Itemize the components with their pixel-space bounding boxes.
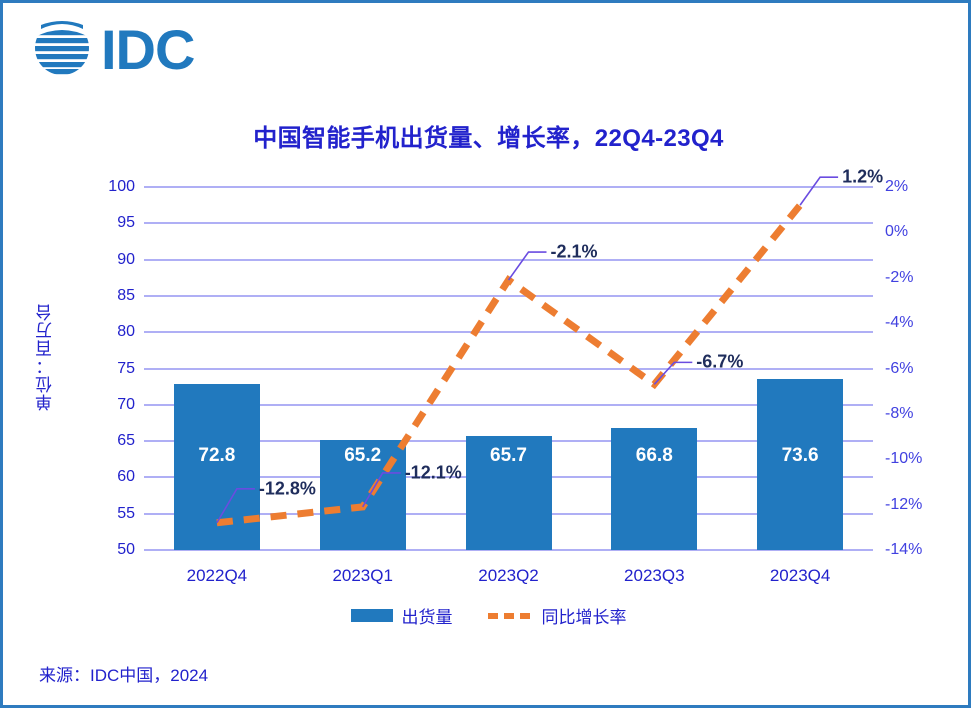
bar-value-label: 65.7 bbox=[466, 445, 552, 467]
gridline bbox=[144, 222, 873, 224]
y-tick-label-right: 0% bbox=[885, 223, 908, 241]
chart-page: IDC 中国智能手机出货量、增长率，22Q4-23Q4 单位：百万台 10095… bbox=[0, 0, 971, 708]
y-tick-label-left: 55 bbox=[117, 505, 135, 523]
legend: 出货量 同比增长率 bbox=[3, 603, 971, 628]
gridline bbox=[144, 259, 873, 261]
y-tick-label-right: -6% bbox=[885, 360, 913, 378]
bar-2023Q2[interactable]: 65.7 bbox=[466, 436, 552, 550]
y-tick-label-right: -10% bbox=[885, 450, 922, 468]
gridline bbox=[144, 368, 873, 370]
page-title: 中国智能手机出货量、增长率，22Q4-23Q4 bbox=[3, 118, 971, 153]
source-note: 来源：IDC中国，2024 bbox=[39, 661, 208, 686]
y-axis-title: 单位：百万台 bbox=[33, 303, 59, 411]
bar-value-label: 72.8 bbox=[174, 445, 260, 467]
y-tick-label-left: 75 bbox=[117, 360, 135, 378]
y-tick-label-left: 100 bbox=[108, 178, 135, 196]
y-tick-label-right: -14% bbox=[885, 541, 922, 559]
y-tick-label-right: -12% bbox=[885, 496, 922, 514]
growth-value-label: -12.1% bbox=[405, 462, 462, 483]
y-tick-label-left: 60 bbox=[117, 468, 135, 486]
bar-2022Q4[interactable]: 72.8 bbox=[174, 384, 260, 550]
y-tick-label-left: 70 bbox=[117, 396, 135, 414]
gridline bbox=[144, 295, 873, 297]
idc-logo-svg: IDC bbox=[31, 17, 231, 79]
legend-bar-swatch-icon bbox=[351, 609, 393, 622]
y-tick-label-right: -8% bbox=[885, 405, 913, 423]
x-axis-label-2023Q3: 2023Q3 bbox=[624, 566, 685, 586]
leader-line bbox=[654, 362, 692, 384]
growth-value-label: -6.7% bbox=[696, 352, 743, 373]
x-axis-label-2022Q4: 2022Q4 bbox=[187, 566, 248, 586]
bar-2023Q1[interactable]: 65.2 bbox=[320, 440, 406, 550]
y-tick-label-left: 95 bbox=[117, 214, 135, 232]
growth-value-label: -2.1% bbox=[551, 242, 598, 263]
x-axis-label-2023Q1: 2023Q1 bbox=[332, 566, 393, 586]
idc-globe-icon bbox=[31, 21, 93, 74]
legend-item-growth[interactable]: 同比增长率 bbox=[487, 603, 627, 628]
bar-2023Q3[interactable]: 66.8 bbox=[611, 428, 697, 550]
y-tick-label-left: 65 bbox=[117, 432, 135, 450]
idc-logo: IDC bbox=[31, 17, 231, 79]
y-tick-label-right: -4% bbox=[885, 314, 913, 332]
legend-label-growth: 同比增长率 bbox=[542, 603, 627, 628]
gridline bbox=[144, 186, 873, 188]
bar-value-label: 73.6 bbox=[757, 445, 843, 467]
x-axis-label-2023Q2: 2023Q2 bbox=[478, 566, 539, 586]
y-tick-label-left: 80 bbox=[117, 323, 135, 341]
bar-2023Q4[interactable]: 73.6 bbox=[757, 379, 843, 550]
legend-item-shipments[interactable]: 出货量 bbox=[351, 603, 453, 628]
y-tick-label-left: 90 bbox=[117, 251, 135, 269]
y-tick-label-right: 2% bbox=[885, 178, 908, 196]
y-tick-label-left: 85 bbox=[117, 287, 135, 305]
bar-value-label: 66.8 bbox=[611, 445, 697, 467]
x-axis-label-2023Q4: 2023Q4 bbox=[770, 566, 831, 586]
leader-line bbox=[509, 252, 547, 280]
legend-label-shipments: 出货量 bbox=[402, 603, 453, 628]
legend-line-swatch-icon bbox=[487, 613, 533, 619]
y-tick-label-right: -2% bbox=[885, 269, 913, 287]
plot-area: 10095908580757065605550 2%0%-2%-4%-6%-8%… bbox=[144, 187, 873, 550]
leader-line bbox=[800, 177, 838, 205]
bar-value-label: 65.2 bbox=[320, 445, 406, 467]
idc-wordmark: IDC bbox=[101, 18, 194, 79]
growth-value-label: 1.2% bbox=[842, 167, 883, 188]
y-tick-label-left: 50 bbox=[117, 541, 135, 559]
gridline bbox=[144, 331, 873, 333]
growth-value-label: -12.8% bbox=[259, 478, 316, 499]
